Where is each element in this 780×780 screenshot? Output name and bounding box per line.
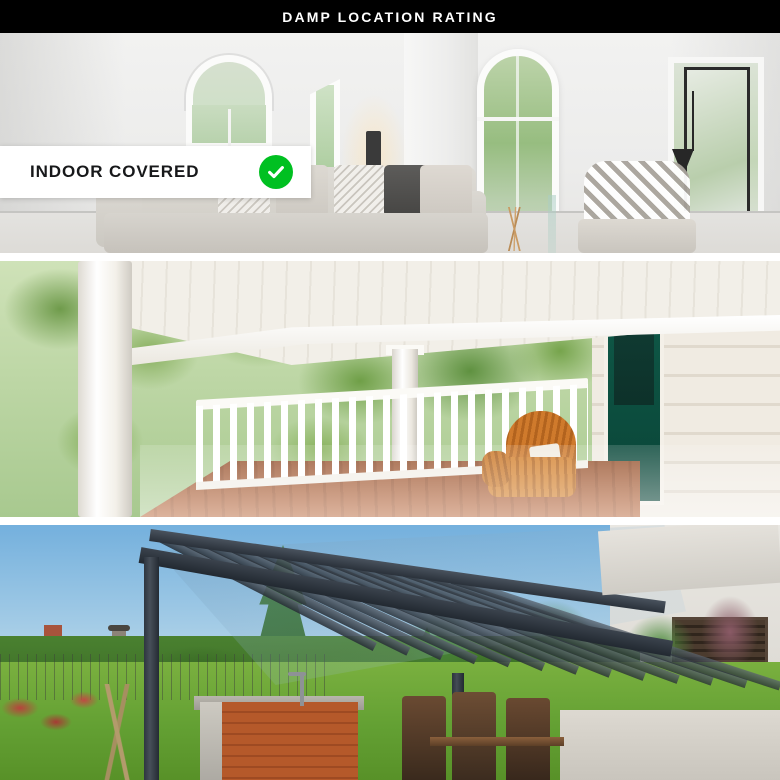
check-circle-icon [259,155,293,189]
patio-paving [560,710,780,780]
panel-divider [0,253,780,261]
armchair-seat [578,219,696,253]
panel-outdoor-uncovered: OUTDOOR UNCOVERED [0,525,780,780]
outdoor-wood-cabinet [200,702,358,780]
damp-location-rating-infographic: DAMP LOCATION RATING [0,0,780,780]
wall-sconce-icon [366,131,381,166]
throw-pillow [420,165,472,217]
panel-divider [0,517,780,525]
red-foliage-plant [0,682,110,752]
panel-outdoor-covered: OUTDOOR COVERED [0,261,780,517]
scene-covered-porch [0,261,780,517]
porch-column-left [78,261,132,517]
label-text-indoor-covered: INDOOR COVERED [30,162,199,182]
panel-indoor-covered: INDOOR COVERED [0,33,780,253]
sofa-seat [104,213,488,253]
wicker-armchair [482,411,580,507]
label-bar-indoor-covered[interactable]: INDOOR COVERED [0,146,311,198]
cabinet-side-panel [200,702,222,780]
wall-lamp-arm [692,91,694,151]
chair-arm [482,451,510,487]
header-bar: DAMP LOCATION RATING [0,0,780,33]
scene-indoor-living-room [0,33,780,253]
decor-sticks [498,207,532,251]
outdoor-faucet [300,672,304,706]
patio-table [430,737,564,746]
throw-pillow [334,165,386,217]
patio-chair [452,692,496,780]
page-title: DAMP LOCATION RATING [282,10,497,24]
chimney-cap [108,625,130,631]
scene-open-patio [0,525,780,780]
glass-panel [548,195,556,253]
window-mullion [228,109,231,149]
